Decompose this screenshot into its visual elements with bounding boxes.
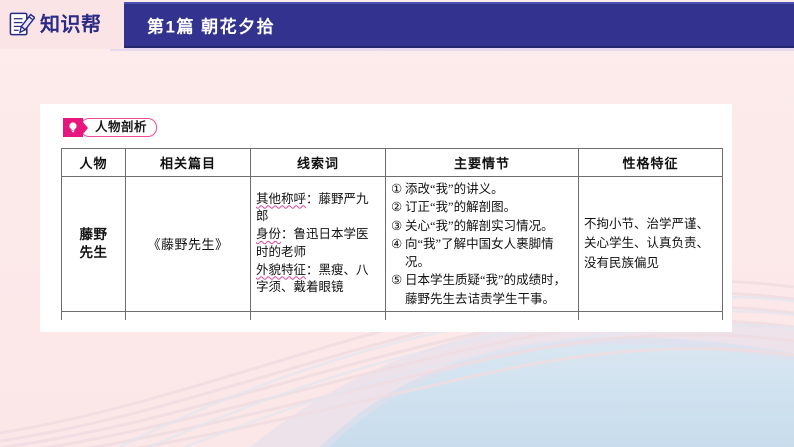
cell-truncated-work: [126, 311, 251, 320]
lightbulb-icon: [63, 118, 83, 137]
clue-label-0: 其他称呼: [256, 192, 306, 206]
page-background: 第1篇 朝花夕拾 知识帮: [0, 0, 794, 447]
character-analysis-table: 人物 相关篇目 线索词 主要情节 性格特征 藤野 先生 《藤野先生》 其他称呼：…: [61, 148, 723, 320]
cell-person: 藤野 先生: [62, 177, 126, 312]
plot-item-2: ③关心“我”的解剖实习情况。: [391, 217, 573, 235]
table-row: 藤野 先生 《藤野先生》 其他称呼：藤野严九郎 身份：鲁迅日本学医时的老师 外貌…: [62, 177, 723, 312]
cell-truncated-traits: [579, 311, 723, 320]
clue-item-0: 其他称呼：藤野严九郎: [256, 191, 380, 227]
header-underline: [110, 48, 794, 51]
clue-item-1: 身份：鲁迅日本学医时的老师: [256, 226, 380, 262]
section-pill: 人物剖析: [80, 118, 157, 137]
column-header-clues: 线索词: [251, 149, 386, 177]
notepad-pencil-icon: [8, 11, 35, 38]
plot-number-1: ②: [391, 198, 402, 216]
plot-item-1: ②订正“我”的解剖图。: [391, 198, 573, 216]
character-analysis-table-wrapper: 人物 相关篇目 线索词 主要情节 性格特征 藤野 先生 《藤野先生》 其他称呼：…: [61, 148, 722, 320]
cell-truncated-plot: [386, 311, 579, 320]
plot-item-3: ④向“我”了解中国女人裹脚情况。: [391, 235, 573, 272]
plot-text-3: 向“我”了解中国女人裹脚情况。: [405, 237, 554, 269]
logo-text: 知识帮: [40, 15, 102, 35]
table-row-truncated: [62, 311, 723, 320]
clue-label-2: 外貌特征: [256, 263, 306, 277]
column-header-plot: 主要情节: [386, 149, 579, 177]
column-header-person: 人物: [62, 149, 126, 177]
cell-truncated-person: [62, 311, 126, 320]
plot-text-1: 订正“我”的解剖图。: [405, 200, 516, 214]
cell-clues: 其他称呼：藤野严九郎 身份：鲁迅日本学医时的老师 外貌特征：黑瘦、八字须、戴着眼…: [251, 177, 386, 312]
plot-item-4: ⑤日本学生质疑“我”的成绩时，藤野先生去诘责学生干事。: [391, 271, 573, 308]
plot-text-4: 日本学生质疑“我”的成绩时，藤野先生去诘责学生干事。: [405, 273, 566, 305]
section-title: 人物剖析: [95, 121, 147, 134]
plot-item-0: ①添改“我”的讲义。: [391, 180, 573, 198]
plot-number-0: ①: [391, 180, 402, 198]
clue-item-2: 外貌特征：黑瘦、八字须、戴着眼镜: [256, 262, 380, 298]
table-header-row: 人物 相关篇目 线索词 主要情节 性格特征: [62, 149, 723, 177]
page-title: 第1篇 朝花夕拾: [147, 13, 275, 38]
clue-label-1: 身份: [256, 227, 281, 241]
plot-number-2: ③: [391, 217, 402, 235]
cell-work: 《藤野先生》: [126, 177, 251, 312]
person-name-line2: 先生: [80, 245, 108, 260]
plot-text-2: 关心“我”的解剖实习情况。: [405, 219, 554, 233]
cell-truncated-clues: [251, 311, 386, 320]
logo-badge[interactable]: 知识帮: [0, 0, 124, 49]
column-header-traits: 性格特征: [579, 149, 723, 177]
plot-number-4: ⑤: [391, 271, 402, 289]
page-header: 第1篇 朝花夕拾 知识帮: [0, 0, 794, 54]
plot-number-3: ④: [391, 235, 402, 253]
cell-plot: ①添改“我”的讲义。 ②订正“我”的解剖图。 ③关心“我”的解剖实习情况。 ④向…: [386, 177, 579, 312]
person-name-line1: 藤野: [80, 227, 108, 242]
header-title-bar: 第1篇 朝花夕拾: [110, 2, 794, 48]
section-label: 人物剖析: [63, 118, 157, 137]
plot-text-0: 添改“我”的讲义。: [405, 182, 504, 196]
cell-traits: 不拘小节、治学严谨、关心学生、认真负责、没有民族偏见: [579, 177, 723, 312]
column-header-work: 相关篇目: [126, 149, 251, 177]
